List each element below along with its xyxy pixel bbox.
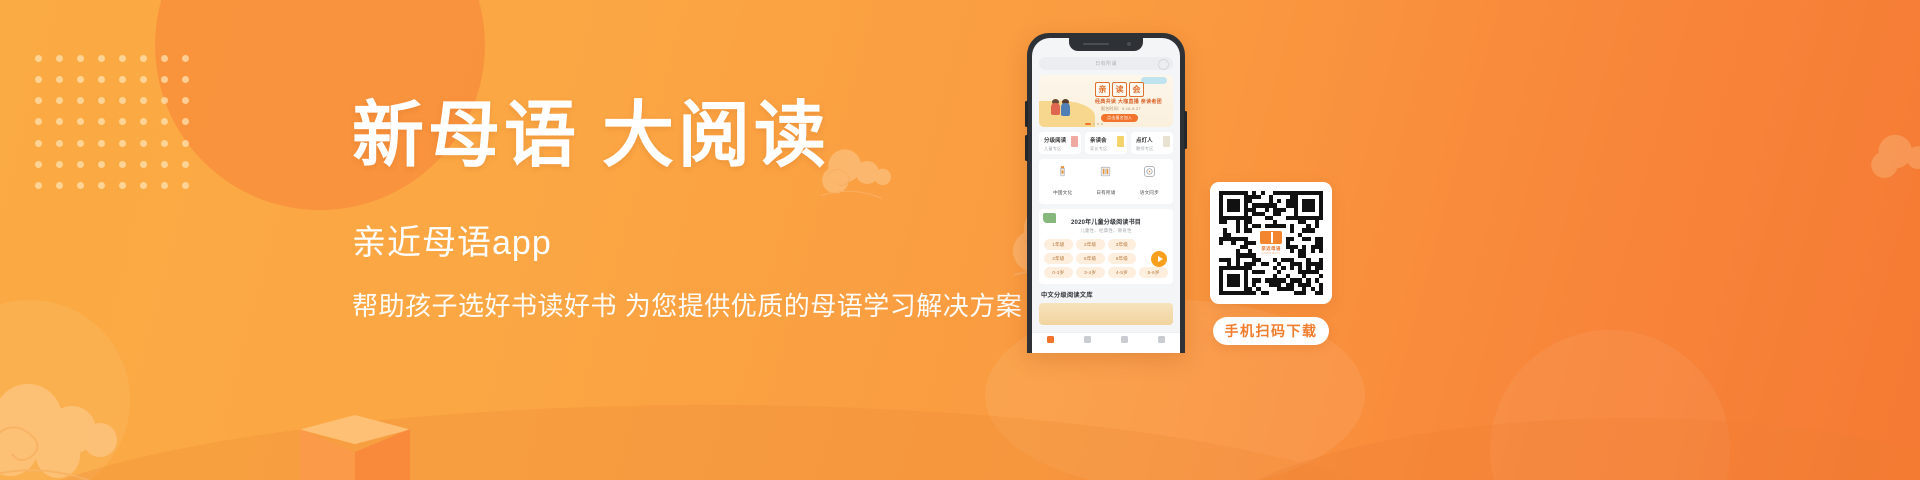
decor-dot <box>35 76 42 83</box>
decor-dot <box>56 55 63 62</box>
entry-card[interactable]: 点灯人教师专区 <box>1131 132 1173 154</box>
entry-card-icon <box>1163 136 1170 147</box>
decor-dot <box>35 97 42 104</box>
hero-title: 亲读会 <box>1095 82 1144 97</box>
decor-dot <box>119 118 126 125</box>
tabbar-item[interactable]: 亲读会 <box>1106 333 1143 353</box>
hero-child-illustration-1 <box>1051 103 1060 115</box>
decor-dot <box>35 118 42 125</box>
grade-chip[interactable]: 1年级 <box>1044 239 1073 250</box>
qr-download-block: 亲近母语 QINJIN MUYU 手机扫码下载 <box>1210 182 1332 345</box>
grade-chip[interactable]: 0-3岁 <box>1044 267 1073 278</box>
decor-dot <box>35 182 42 189</box>
decor-isometric-cube <box>300 415 410 480</box>
promo-banner: 新母语 大阅读 亲近母语app 帮助孩子选好书读好书 为您提供优质的母语学习解决… <box>0 0 1920 480</box>
quick-icon-item[interactable]: 中国文化 <box>1041 165 1084 199</box>
decor-dot <box>98 55 105 62</box>
quick-icon-item[interactable]: 语文同步 <box>1128 165 1171 199</box>
bookmark-icon <box>1043 213 1056 223</box>
quick-icon-label: 中国文化 <box>1053 190 1072 195</box>
booklist-subtitle: 儿童性、经典性、教育性 <box>1044 228 1168 234</box>
copy-block: 新母语 大阅读 亲近母语app 帮助孩子选好书读好书 为您提供优质的母语学习解决… <box>352 96 1012 323</box>
decor-hill-left <box>0 405 1460 480</box>
decor-dot <box>77 140 84 147</box>
decor-dot <box>56 97 63 104</box>
page-title: 新母语 大阅读 <box>352 96 1012 177</box>
grade-chip[interactable]: 5年级 <box>1076 253 1105 264</box>
decor-dot <box>56 76 63 83</box>
phone-screen: 日有所诵 亲读会 经典共读 大咖直播 亲读者团 报名时间：9.16-9.27 点… <box>1032 38 1180 353</box>
decor-dot <box>35 55 42 62</box>
library-card[interactable] <box>1039 303 1173 325</box>
decor-dot <box>56 161 63 168</box>
decor-dot <box>182 118 189 125</box>
app-tabbar: 首页分级阅读亲读会我的 <box>1032 332 1180 353</box>
entry-card-icon <box>1071 136 1078 147</box>
decor-dot <box>77 182 84 189</box>
decor-hill-right <box>1180 418 1920 480</box>
disc-icon <box>1143 165 1156 178</box>
phone-volume-down-button <box>1025 135 1028 161</box>
brand-logo: 亲近母语 QINJIN MUYU <box>1256 228 1286 258</box>
decor-dot <box>119 140 126 147</box>
hero-title-char: 亲 <box>1095 82 1110 97</box>
decor-dot <box>56 118 63 125</box>
grade-chip[interactable]: 5-6岁 <box>1139 267 1168 278</box>
booklist-title: 2020年儿童分级阅读书目 <box>1044 217 1168 226</box>
decor-dot <box>77 76 84 83</box>
decor-dot <box>182 55 189 62</box>
entry-card-icon <box>1117 136 1124 147</box>
phone-power-button <box>1184 111 1187 149</box>
decor-dot <box>140 140 147 147</box>
open-book-icon <box>1260 231 1282 244</box>
decor-dot <box>182 140 189 147</box>
entry-card-row: 分级阅读儿童专区亲读会家长专区点灯人教师专区 <box>1039 132 1173 154</box>
tabbar-item[interactable]: 我的 <box>1143 333 1180 353</box>
decor-dot-grid <box>28 48 196 196</box>
quick-icon-row: 中国文化日有所诵语文同步 <box>1039 159 1173 204</box>
qr-code[interactable]: 亲近母语 QINJIN MUYU <box>1210 182 1332 304</box>
decor-dot <box>98 76 105 83</box>
library-section-title: 中文分级阅读文库 <box>1041 290 1180 299</box>
decor-dot <box>140 118 147 125</box>
grade-chip[interactable]: 3年级 <box>1108 239 1137 250</box>
decor-dot <box>161 55 168 62</box>
hero-title-char: 读 <box>1112 82 1127 97</box>
hero-banner-card[interactable]: 亲读会 经典共读 大咖直播 亲读者团 报名时间：9.16-9.27 点击报名加入 <box>1039 75 1173 127</box>
grade-chip[interactable]: 2年级 <box>1076 239 1105 250</box>
quick-icon-label: 语文同步 <box>1140 190 1159 195</box>
decor-dot <box>182 97 189 104</box>
book-icon <box>1099 165 1112 178</box>
brand-logo-pinyin: QINJIN MUYU <box>1262 252 1281 255</box>
decor-dot <box>98 140 105 147</box>
decor-dot <box>161 76 168 83</box>
decor-dot <box>98 97 105 104</box>
app-name-subtitle: 亲近母语app <box>352 215 1012 264</box>
tabbar-icon <box>1047 336 1054 343</box>
hero-cta-button[interactable]: 点击报名加入 <box>1101 114 1138 122</box>
decor-dot <box>35 140 42 147</box>
decor-dot <box>77 161 84 168</box>
decor-dot <box>161 97 168 104</box>
decor-dot <box>98 118 105 125</box>
download-button[interactable]: 手机扫码下载 <box>1213 317 1329 345</box>
quick-icon-item[interactable]: 日有所诵 <box>1084 165 1127 199</box>
qr-module <box>1319 291 1323 295</box>
play-button[interactable] <box>1151 251 1167 267</box>
entry-card[interactable]: 分级阅读儿童专区 <box>1039 132 1081 154</box>
decor-dot <box>98 182 105 189</box>
phone-volume-up-button <box>1025 101 1028 127</box>
decor-dot <box>35 161 42 168</box>
decor-dot <box>98 161 105 168</box>
download-button-label: 手机扫码下载 <box>1225 321 1318 341</box>
decor-dot <box>140 182 147 189</box>
decor-dot <box>56 140 63 147</box>
decor-dot <box>140 161 147 168</box>
decor-dot <box>161 118 168 125</box>
decor-dot <box>119 161 126 168</box>
decor-dot <box>119 182 126 189</box>
phone-mockup: 日有所诵 亲读会 经典共读 大咖直播 亲读者团 报名时间：9.16-9.27 点… <box>1027 33 1185 353</box>
hero-date-text: 报名时间：9.16-9.27 <box>1101 106 1141 112</box>
cloud-icon-top-right <box>1870 130 1920 190</box>
decor-circle-bottom-right <box>1490 330 1730 480</box>
decor-dot <box>77 97 84 104</box>
decor-dot <box>119 97 126 104</box>
hero-title-char: 会 <box>1129 82 1144 97</box>
grade-chip-grid: 1年级2年级3年级4年级5年级6年级0-3岁3-4岁4-5岁5-6岁 <box>1044 239 1168 278</box>
decor-dot <box>161 182 168 189</box>
decor-dot <box>161 140 168 147</box>
hero-sky-shape <box>1141 77 1167 84</box>
decor-dot <box>161 161 168 168</box>
decor-dot <box>56 182 63 189</box>
tabbar-item[interactable]: 首页 <box>1032 333 1069 353</box>
decor-dot <box>119 76 126 83</box>
tabbar-icon <box>1158 336 1165 343</box>
search-icon[interactable] <box>1158 59 1169 70</box>
decor-dot <box>77 55 84 62</box>
decor-circle-bottom-left <box>0 300 130 480</box>
grade-chip-placeholder <box>1139 239 1168 250</box>
quick-icon-label: 日有所诵 <box>1096 190 1115 195</box>
tabbar-icon <box>1084 336 1091 343</box>
search-placeholder: 日有所诵 <box>1095 60 1117 67</box>
vase-icon <box>1056 165 1069 178</box>
hero-child-illustration-2 <box>1061 103 1070 116</box>
grade-chip[interactable]: 3-4岁 <box>1076 267 1105 278</box>
tabbar-item[interactable]: 分级阅读 <box>1069 333 1106 353</box>
decor-dot <box>140 97 147 104</box>
decor-dot <box>140 55 147 62</box>
grade-chip[interactable]: 4-5岁 <box>1108 267 1137 278</box>
decor-dot <box>119 55 126 62</box>
decor-dot <box>77 118 84 125</box>
decor-dot <box>182 182 189 189</box>
tagline-text: 帮助孩子选好书读好书 为您提供优质的母语学习解决方案 <box>352 286 1012 323</box>
decor-dot <box>140 76 147 83</box>
decor-dot <box>182 161 189 168</box>
decor-dot <box>182 76 189 83</box>
tabbar-icon <box>1121 336 1128 343</box>
hero-carousel-dots[interactable] <box>1085 123 1103 125</box>
phone-notch <box>1069 38 1143 51</box>
hero-subtitle: 经典共读 大咖直播 亲读者团 <box>1095 98 1162 105</box>
booklist-card[interactable]: 2020年儿童分级阅读书目 儿童性、经典性、教育性 1年级2年级3年级4年级5年… <box>1039 209 1173 284</box>
app-search-input[interactable]: 日有所诵 <box>1039 57 1173 70</box>
grade-chip[interactable]: 4年级 <box>1044 253 1073 264</box>
grade-chip[interactable]: 6年级 <box>1108 253 1137 264</box>
front-camera-icon <box>1127 42 1131 46</box>
cloud-icon-bottom-left <box>0 378 170 480</box>
entry-card[interactable]: 亲读会家长专区 <box>1085 132 1127 154</box>
